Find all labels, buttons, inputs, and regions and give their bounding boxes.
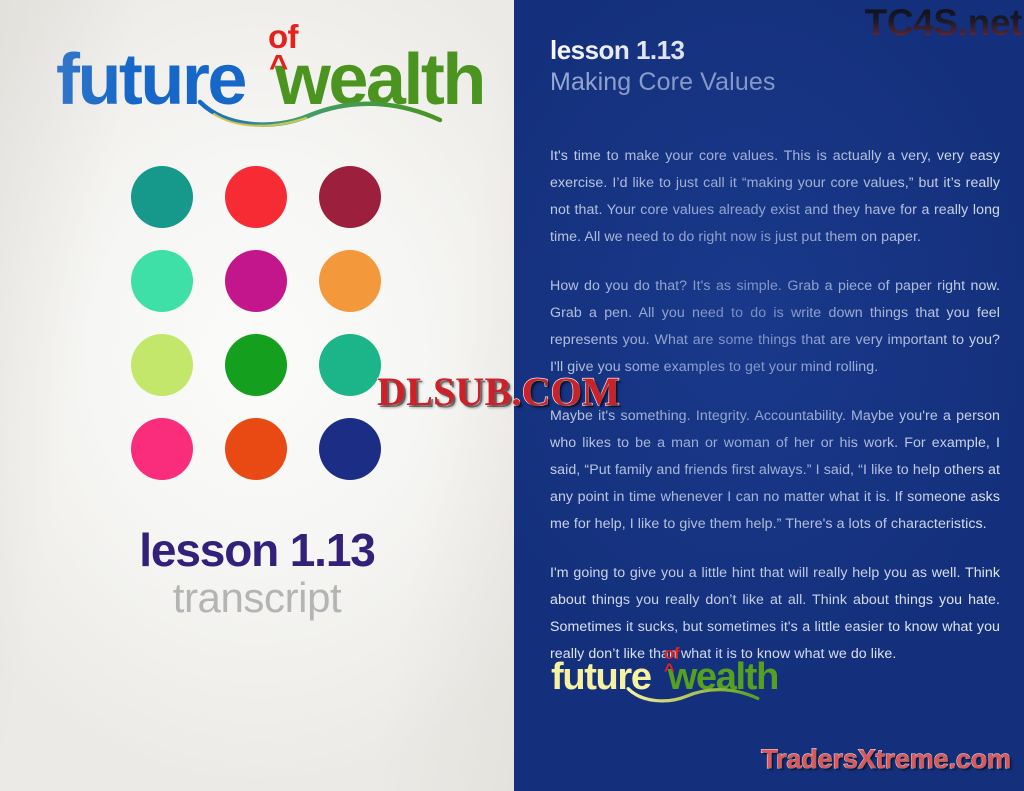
swatch-spring-green [131,250,193,312]
logo-word-wealth: wealth [275,44,484,116]
cover-panel: futurewealth of ^ [0,0,514,791]
swatch-orange-red [225,418,287,480]
swatch-green [225,334,287,396]
future-of-wealth-logo: futurewealth of ^ [56,44,484,116]
caret-icon: ^ [664,661,675,679]
color-swatch-grid [131,166,381,480]
cover-lesson-number: lesson 1.13 [0,526,514,574]
swatch-crimson [319,166,381,228]
transcript-paragraph: Maybe it's something. Integrity. Account… [550,403,1000,538]
transcript-paragraph: It's time to make your core values. This… [550,143,1000,251]
transcript-header: lesson 1.13 Making Core Values [550,36,776,96]
logo-word-future: future [56,44,245,116]
logo-word-wealth: wealth [668,658,778,696]
caret-icon: ^ [269,50,288,83]
swatch-magenta [225,250,287,312]
transcript-lesson-subtitle: Making Core Values [550,68,776,97]
swatch-red [225,166,287,228]
transcript-body: It's time to make your core values. This… [550,143,1000,668]
logo-word-future: future [551,658,651,696]
swatch-hot-pink [131,418,193,480]
transcript-paragraph: I'm going to give you a little hint that… [550,560,1000,668]
future-of-wealth-logo-footer: futurewealth of ^ [551,658,778,696]
swatch-navy [319,418,381,480]
transcript-paragraph: How do you do that? It's as simple. Grab… [550,273,1000,381]
swatch-jade [319,334,381,396]
cover-title-block: lesson 1.13 transcript [0,526,514,620]
transcript-lesson-number: lesson 1.13 [550,36,776,65]
transcript-page: futurewealth of ^ [0,0,1024,791]
swatch-teal [131,166,193,228]
cover-lesson-type: transcript [0,576,514,620]
swatch-yellow-green [131,334,193,396]
swatch-orange [319,250,381,312]
